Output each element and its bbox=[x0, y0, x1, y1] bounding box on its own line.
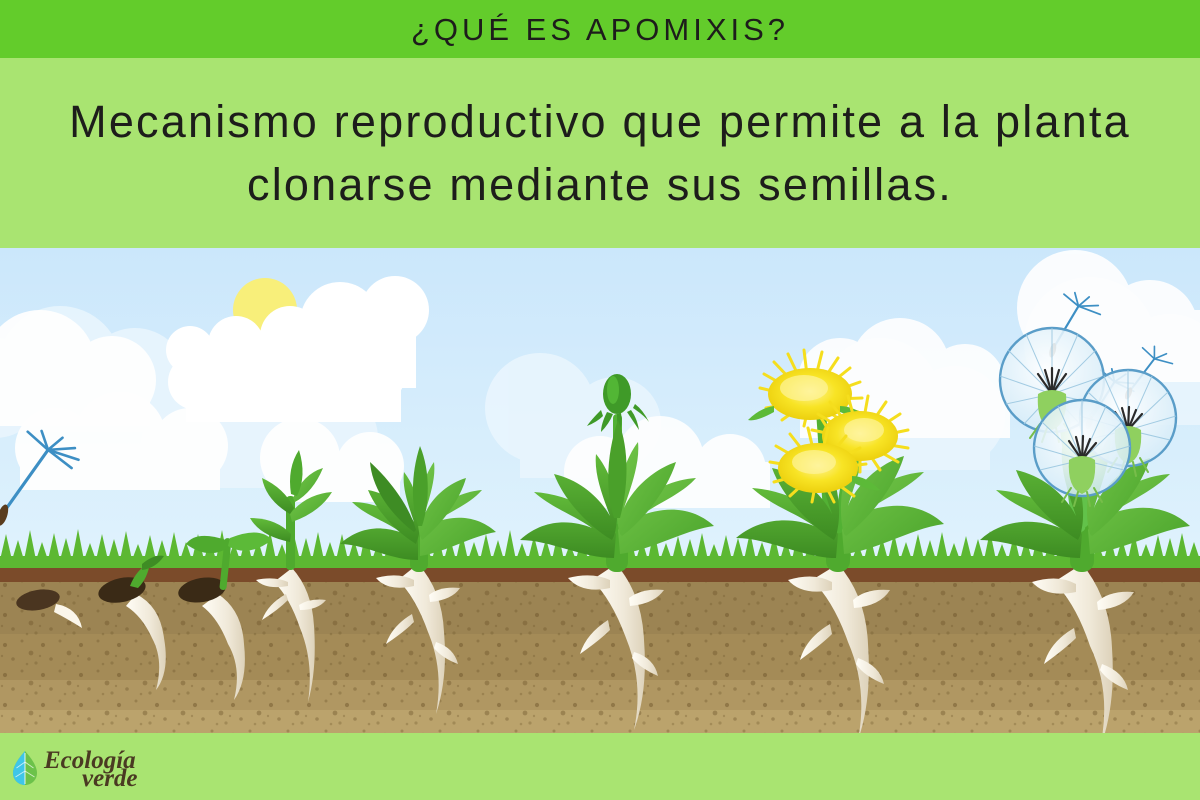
brand-wordmark: Ecología verde bbox=[44, 748, 194, 788]
title-band: ¿QUÉ ES APOMIXIS? bbox=[0, 0, 1200, 58]
subtitle-text: Mecanismo reproductivo que permite a la … bbox=[25, 90, 1175, 216]
page-title: ¿QUÉ ES APOMIXIS? bbox=[411, 14, 789, 45]
illustration-panel bbox=[0, 248, 1200, 733]
leaf-droplet-icon bbox=[12, 750, 38, 786]
soil-texture bbox=[0, 582, 1200, 733]
brand-name-line2: verde bbox=[82, 766, 138, 791]
dandelion-lifecycle-illustration bbox=[0, 248, 1200, 733]
infographic-canvas: ¿QUÉ ES APOMIXIS? Mecanismo reproductivo… bbox=[0, 0, 1200, 800]
subtitle-band: Mecanismo reproductivo que permite a la … bbox=[0, 58, 1200, 248]
brand-logo[interactable]: Ecología verde bbox=[12, 748, 194, 788]
